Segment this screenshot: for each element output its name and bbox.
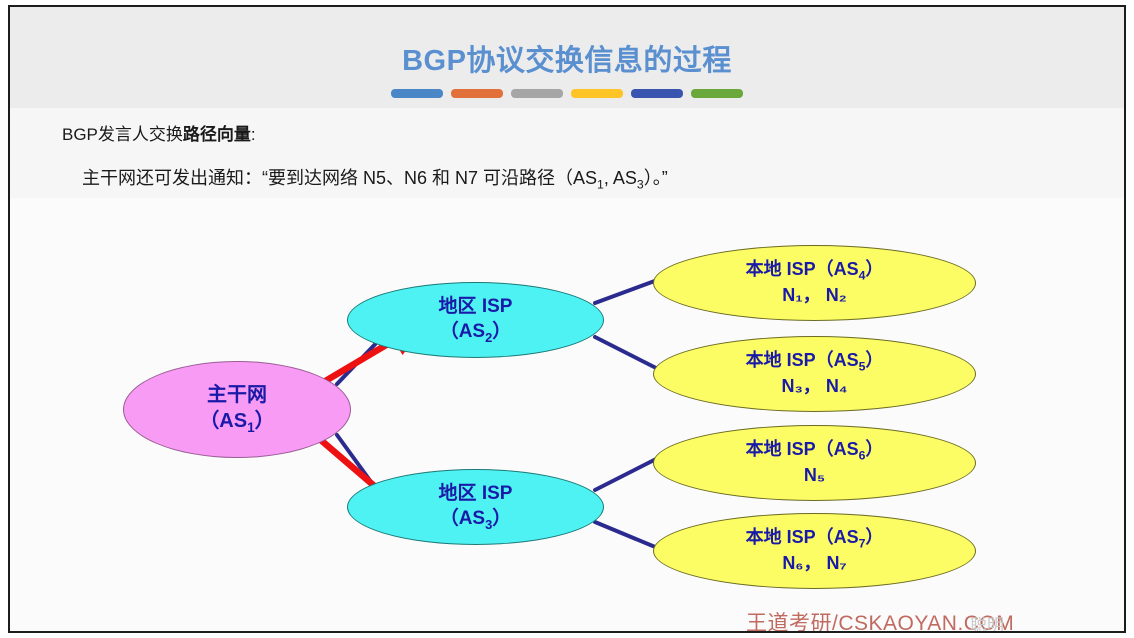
backbone-label-line2: （AS1）	[199, 408, 274, 437]
local7-networks: N₆， N₇	[782, 552, 846, 576]
node-local-isp-as7[interactable]: 本地 ISP（AS7） N₆， N₇	[653, 513, 976, 589]
node-local-isp-as4[interactable]: 本地 ISP（AS4） N₁， N₂	[653, 245, 976, 321]
region2-label-line2: （AS2）	[440, 319, 512, 346]
local4-label-line1: 本地 ISP（AS4）	[746, 258, 884, 284]
connector-line-6	[595, 522, 660, 549]
local5-label-line1: 本地 ISP（AS5）	[746, 349, 884, 375]
node-local-isp-as6[interactable]: 本地 ISP（AS6） N₅	[653, 425, 976, 501]
connector-line-5	[595, 457, 660, 490]
backbone-as-prefix: （AS	[199, 410, 247, 432]
node-local-isp-as5[interactable]: 本地 ISP（AS5） N₃， N₄	[653, 336, 976, 412]
node-region-isp-as3[interactable]: 地区 ISP （AS3）	[347, 469, 604, 545]
backbone-as-suffix: ）	[255, 410, 275, 432]
backbone-label-line1: 主干网	[207, 382, 267, 408]
node-region-isp-as2[interactable]: 地区 ISP （AS2）	[347, 282, 604, 358]
local6-as-prefix: 本地 ISP（AS	[746, 439, 859, 459]
local7-label-line1: 本地 ISP（AS7）	[746, 526, 884, 552]
slide-canvas: BGP协议交换信息的过程 BGP发言人交换路径向量: 主干网还可发出通知：“要到…	[0, 0, 1134, 638]
local4-as-prefix: 本地 ISP（AS	[746, 259, 859, 279]
backbone-as-sub: 1	[247, 420, 255, 435]
region3-label-line2: （AS3）	[440, 506, 512, 533]
local6-label-line1: 本地 ISP（AS6）	[746, 438, 884, 464]
node-backbone-as1[interactable]: 主干网 （AS1）	[123, 361, 351, 458]
local5-networks: N₃， N₄	[782, 375, 848, 399]
local4-as-suffix: ）	[865, 259, 883, 279]
local7-as-suffix: ）	[865, 527, 883, 547]
local6-networks: N₅	[804, 464, 825, 488]
slide-frame: BGP协议交换信息的过程 BGP发言人交换路径向量: 主干网还可发出通知：“要到…	[8, 5, 1126, 633]
local5-as-prefix: 本地 ISP（AS	[746, 350, 859, 370]
local5-as-suffix: ）	[865, 350, 883, 370]
region3-label-line1: 地区 ISP	[439, 481, 513, 506]
local6-as-suffix: ）	[865, 439, 883, 459]
connector-line-4	[595, 337, 660, 370]
connector-line-3	[595, 279, 660, 303]
region2-as-suffix: ）	[492, 321, 511, 342]
local7-as-prefix: 本地 ISP（AS	[746, 527, 859, 547]
local4-networks: N₁， N₂	[782, 284, 846, 308]
region2-label-line1: 地区 ISP	[439, 294, 513, 319]
region3-as-suffix: ）	[492, 508, 511, 529]
region2-as-prefix: （AS	[440, 321, 485, 342]
region3-as-prefix: （AS	[440, 508, 485, 529]
footer-ghost-watermark: 聪明	[970, 611, 1004, 633]
